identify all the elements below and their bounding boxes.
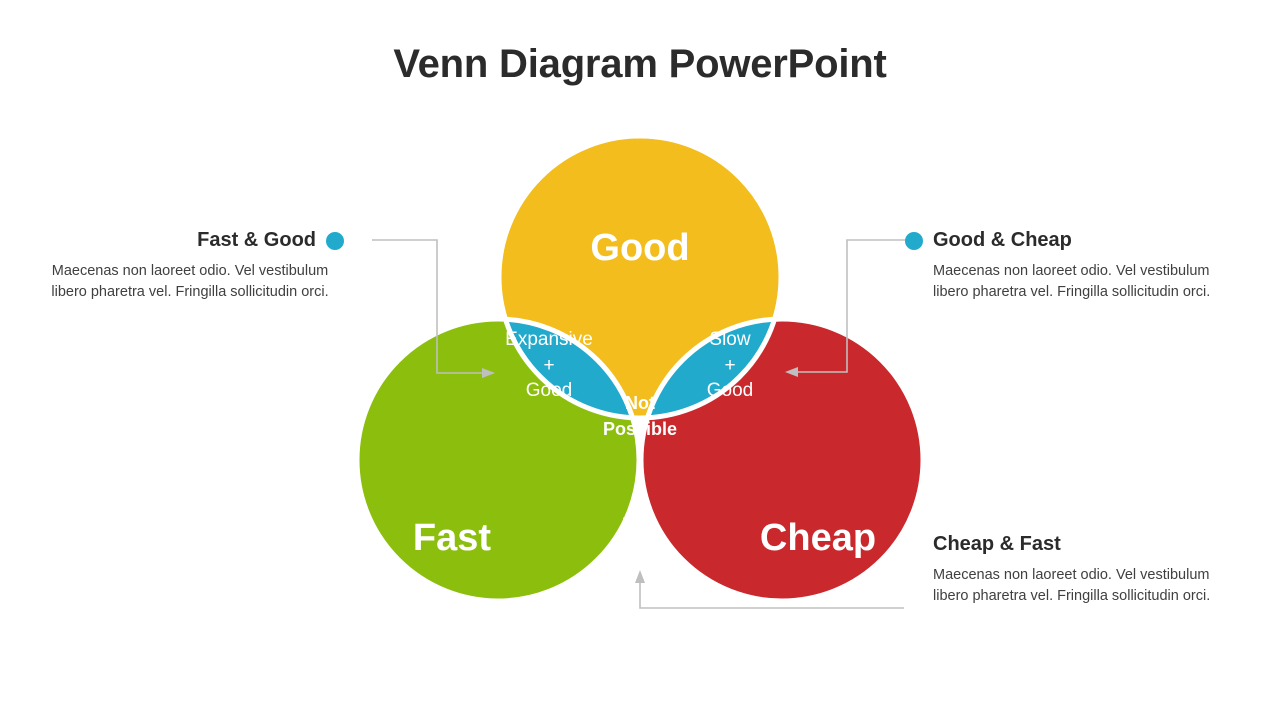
callout-cheap-fast-title: Cheap & Fast xyxy=(933,533,1255,556)
callout-good-cheap-head: Good & Cheap xyxy=(905,229,1225,252)
low-quality-line-1: Low xyxy=(622,515,657,536)
slow-line-3: Good xyxy=(707,380,753,401)
callout-good-cheap-title: Good & Cheap xyxy=(933,229,1072,252)
center-line-1: Not xyxy=(625,393,655,413)
venn-label-fast: Fast xyxy=(413,517,491,559)
callout-fast-good-title: Fast & Good xyxy=(197,229,316,252)
callout-fast-good-body: Maecenas non laoreet odio. Vel vestibulu… xyxy=(36,261,344,302)
bullet-dot-icon xyxy=(905,232,923,250)
bullet-dot-icon xyxy=(326,232,344,250)
center-line-2: Possible xyxy=(603,419,677,439)
slow-line-2: + xyxy=(724,355,735,376)
expansive-line-1: Expansive xyxy=(505,329,593,350)
low-quality-line-2: Quality xyxy=(609,541,669,562)
callout-good-cheap-body: Maecenas non laoreet odio. Vel vestibulu… xyxy=(933,261,1223,302)
expansive-line-2: + xyxy=(543,355,554,376)
callout-cheap-fast[interactable]: Cheap & Fast Maecenas non laoreet odio. … xyxy=(905,533,1255,606)
expansive-line-3: Good xyxy=(526,380,572,401)
venn-label-cheap: Cheap xyxy=(760,517,876,559)
venn-diagram: Good Fast Cheap Expansive + Good Slow + … xyxy=(0,0,1280,720)
slow-line-1: Slow xyxy=(709,329,750,350)
venn-label-good: Good xyxy=(590,227,689,269)
callout-cheap-fast-body: Maecenas non laoreet odio. Vel vestibulu… xyxy=(933,565,1245,606)
callout-fast-good-head: Fast & Good xyxy=(36,229,344,252)
callout-good-cheap[interactable]: Good & Cheap Maecenas non laoreet odio. … xyxy=(905,229,1225,302)
callout-fast-good[interactable]: Fast & Good Maecenas non laoreet odio. V… xyxy=(36,229,344,302)
